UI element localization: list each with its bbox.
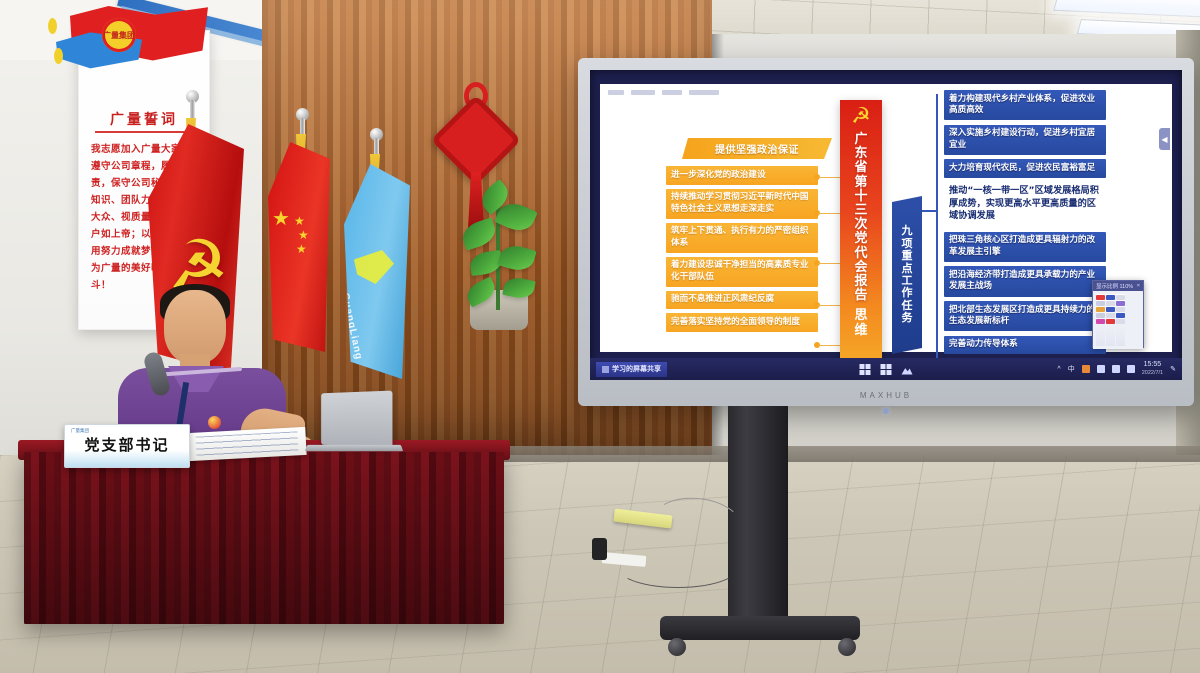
plant-foliage (460, 182, 536, 302)
list-item: 进一步深化党的政治建设 (666, 166, 818, 185)
connector-arm (818, 177, 842, 179)
preview-bar (1106, 295, 1115, 300)
laptop-screen[interactable] (321, 391, 392, 448)
preview-strip (1096, 294, 1105, 346)
ime-icon[interactable]: 中 (1068, 364, 1075, 374)
power-led-icon (883, 408, 889, 414)
poster-flag-finial (54, 48, 63, 64)
list-item: 筑牢上下贯通、执行有力的严密组织体系 (666, 223, 818, 253)
app-icon (602, 366, 609, 373)
floating-window-title: 显示比例 110% (1096, 282, 1133, 290)
cable (618, 548, 738, 588)
person-head (164, 290, 226, 364)
taskbar-system-tray[interactable]: ^ 中 15:55 2022/7/1 ✎ (1057, 361, 1176, 377)
list-item: 完善落实坚持党的全面领导的制度 (666, 313, 818, 332)
network-icon[interactable] (1097, 365, 1105, 373)
preview-bar (1096, 319, 1105, 324)
stand-caster (838, 638, 856, 656)
taskbar-task-label: 学习的屏幕共享 (612, 364, 661, 374)
party-emblem-icon: ☭ (846, 104, 876, 130)
flag-star-icon: ★ (298, 228, 309, 242)
connector-arm (818, 305, 842, 307)
list-item: 驰而不息推进正风肃纪反腐 (666, 291, 818, 310)
floating-window-titlebar[interactable]: 显示比例 110% × (1093, 281, 1143, 291)
list-item: 把沿海经济带打造成更具承载力的产业发展主战场 (944, 266, 1106, 296)
presentation-slide[interactable]: 提供坚强政治保证 进一步深化党的政治建设 持续推动学习贯彻习近平新时代中国特色社… (600, 84, 1172, 352)
list-item: 持续推动学习贯彻习近平新时代中国特色社会主义思想走深走实 (666, 189, 818, 219)
flag-star-icon: ★ (272, 206, 290, 231)
window-icon[interactable] (881, 364, 892, 375)
preview-strip (1106, 294, 1115, 346)
preview-bar (1106, 313, 1115, 318)
connector-arm (818, 263, 842, 265)
taskbar-task-button[interactable]: 学习的屏幕共享 (596, 362, 667, 377)
battery-icon[interactable] (1127, 365, 1135, 373)
display-screen[interactable]: 提供坚强政治保证 进一步深化党的政治建设 持续推动学习贯彻习近平新时代中国特色社… (590, 70, 1182, 380)
branch-tab-label: 九项重点工作任务 (901, 225, 914, 324)
toolbar-chip[interactable] (608, 90, 624, 95)
meeting-room-photo: 广量誓词 我志愿加入广量大家， 遵守公司章程，履行职 责，保守公司秘密，专业 知… (0, 0, 1200, 673)
list-item: 大力培育现代农民，促进农民富裕富足 (944, 159, 1106, 178)
toolbar-chip[interactable] (662, 90, 682, 95)
laptop-keyboard-base[interactable] (305, 445, 404, 451)
flag-star-icon: ★ (296, 242, 307, 256)
nameplate-title: 党支部书记 (84, 434, 169, 455)
picture-icon[interactable] (902, 364, 913, 375)
toolbar-chip[interactable] (689, 90, 719, 95)
poster-flag-artwork: 广量集团 (48, 4, 228, 94)
right-branch-spine (936, 94, 938, 380)
windows-taskbar[interactable]: 学习的屏幕共享 ^ 中 15:55 2022/7/1 (590, 358, 1182, 380)
toolbar-chip[interactable] (631, 90, 655, 95)
list-item: 把珠三角核心区打造成更具辐射力的改革发展主引擎 (944, 232, 1106, 262)
preview-bar (1096, 295, 1105, 300)
preview-strip (1116, 294, 1125, 346)
display-stand-base (660, 616, 860, 640)
table-shading (24, 452, 504, 624)
flag-star-icon: ★ (294, 214, 305, 228)
poster-flag-finial (48, 18, 57, 34)
list-item: 着力构建现代乡村产业体系，促进农业高质高效 (944, 90, 1106, 120)
paper-text-lines (196, 431, 299, 456)
branch-header-political-guarantee: 提供坚强政治保证 (682, 138, 832, 159)
display-stand-column (728, 406, 788, 620)
floating-window-body[interactable] (1093, 291, 1143, 349)
right-branch-list: 着力构建现代乡村产业体系，促进农业高质高效 深入实施乡村建设行动，促进乡村宜居宜… (944, 90, 1106, 380)
banner-subtitle: 思维 (852, 309, 870, 338)
list-item: 着力建设忠诚干净担当的高素质专业化干部队伍 (666, 257, 818, 287)
taskbar-center-icons[interactable] (860, 364, 913, 375)
preview-bar (1096, 307, 1105, 312)
display-brand-label: MAXHUB (578, 391, 1194, 400)
clock-date: 2022/7/1 (1142, 369, 1163, 377)
preview-bar (1116, 307, 1125, 312)
poster-divider (95, 131, 195, 133)
company-logo-icon: 广量集团 (102, 18, 136, 52)
preview-bar (1116, 319, 1125, 324)
left-branch-list: 进一步深化党的政治建设 持续推动学习贯彻习近平新时代中国特色社会主义思想走深走实… (666, 166, 818, 336)
list-item: 深入实施乡村建设行动，促进乡村宜居宜业 (944, 125, 1106, 155)
slide-center-banner: ☭ 广东省第十三次党代会报告 思维 (840, 100, 882, 380)
chevron-left-icon[interactable]: ◀ (1159, 128, 1170, 150)
preview-bar (1106, 307, 1115, 312)
maxhub-interactive-display[interactable]: 提供坚强政治保证 进一步深化党的政治建设 持续推动学习贯彻习近平新时代中国特色社… (578, 58, 1194, 406)
nameplate-logo: 广量集团 (71, 428, 89, 434)
clock-time: 15:55 (1142, 361, 1163, 369)
power-adapter (592, 538, 607, 560)
orange-app-icon[interactable] (1082, 365, 1090, 373)
slide-app-toolbar[interactable] (608, 88, 808, 97)
close-icon[interactable]: × (1137, 283, 1140, 289)
knot-body (431, 95, 522, 186)
chevron-up-icon[interactable]: ^ (1057, 366, 1060, 373)
volume-icon[interactable] (1112, 365, 1120, 373)
preview-bar (1116, 295, 1125, 300)
list-item: 把北部生态发展区打造成更具持续力的生态发展新标杆 (944, 301, 1106, 331)
preview-bar (1116, 313, 1125, 318)
taskbar-clock[interactable]: 15:55 2022/7/1 (1142, 361, 1163, 377)
presenter-table-skirt (24, 452, 504, 624)
window-icon[interactable] (860, 364, 871, 375)
plant-leaf (459, 217, 499, 250)
plant-leaf (502, 275, 536, 301)
right-branch-connector (922, 210, 936, 212)
connector-arm (818, 345, 842, 347)
party-lapel-pin-icon (208, 416, 221, 429)
desk-nameplate: 广量集团 党支部书记 (64, 424, 190, 468)
preview-bar (1096, 313, 1105, 318)
banner-title: 广东省第十三次党代会报告 (851, 133, 871, 303)
company-flag-logo-icon (354, 250, 394, 284)
preview-bar (1106, 319, 1115, 324)
stand-caster (668, 638, 686, 656)
preview-bar (1106, 301, 1115, 306)
connector-arm (818, 213, 842, 215)
branch-tab-nine-key-tasks: 九项重点工作任务 (892, 196, 922, 354)
list-item: 完善动力传导体系 (944, 336, 1106, 355)
right-branch-heading: 推动“一核一带一区”区域发展格局积厚成势，实现更高水平更高质量的区域协调发展 (944, 182, 1106, 225)
pen-icon[interactable]: ✎ (1170, 365, 1176, 373)
preview-bar (1116, 301, 1125, 306)
preview-bar (1096, 301, 1105, 306)
plant-leaf (497, 242, 536, 274)
zoom-scale-floating-window[interactable]: 显示比例 110% × (1092, 280, 1144, 348)
